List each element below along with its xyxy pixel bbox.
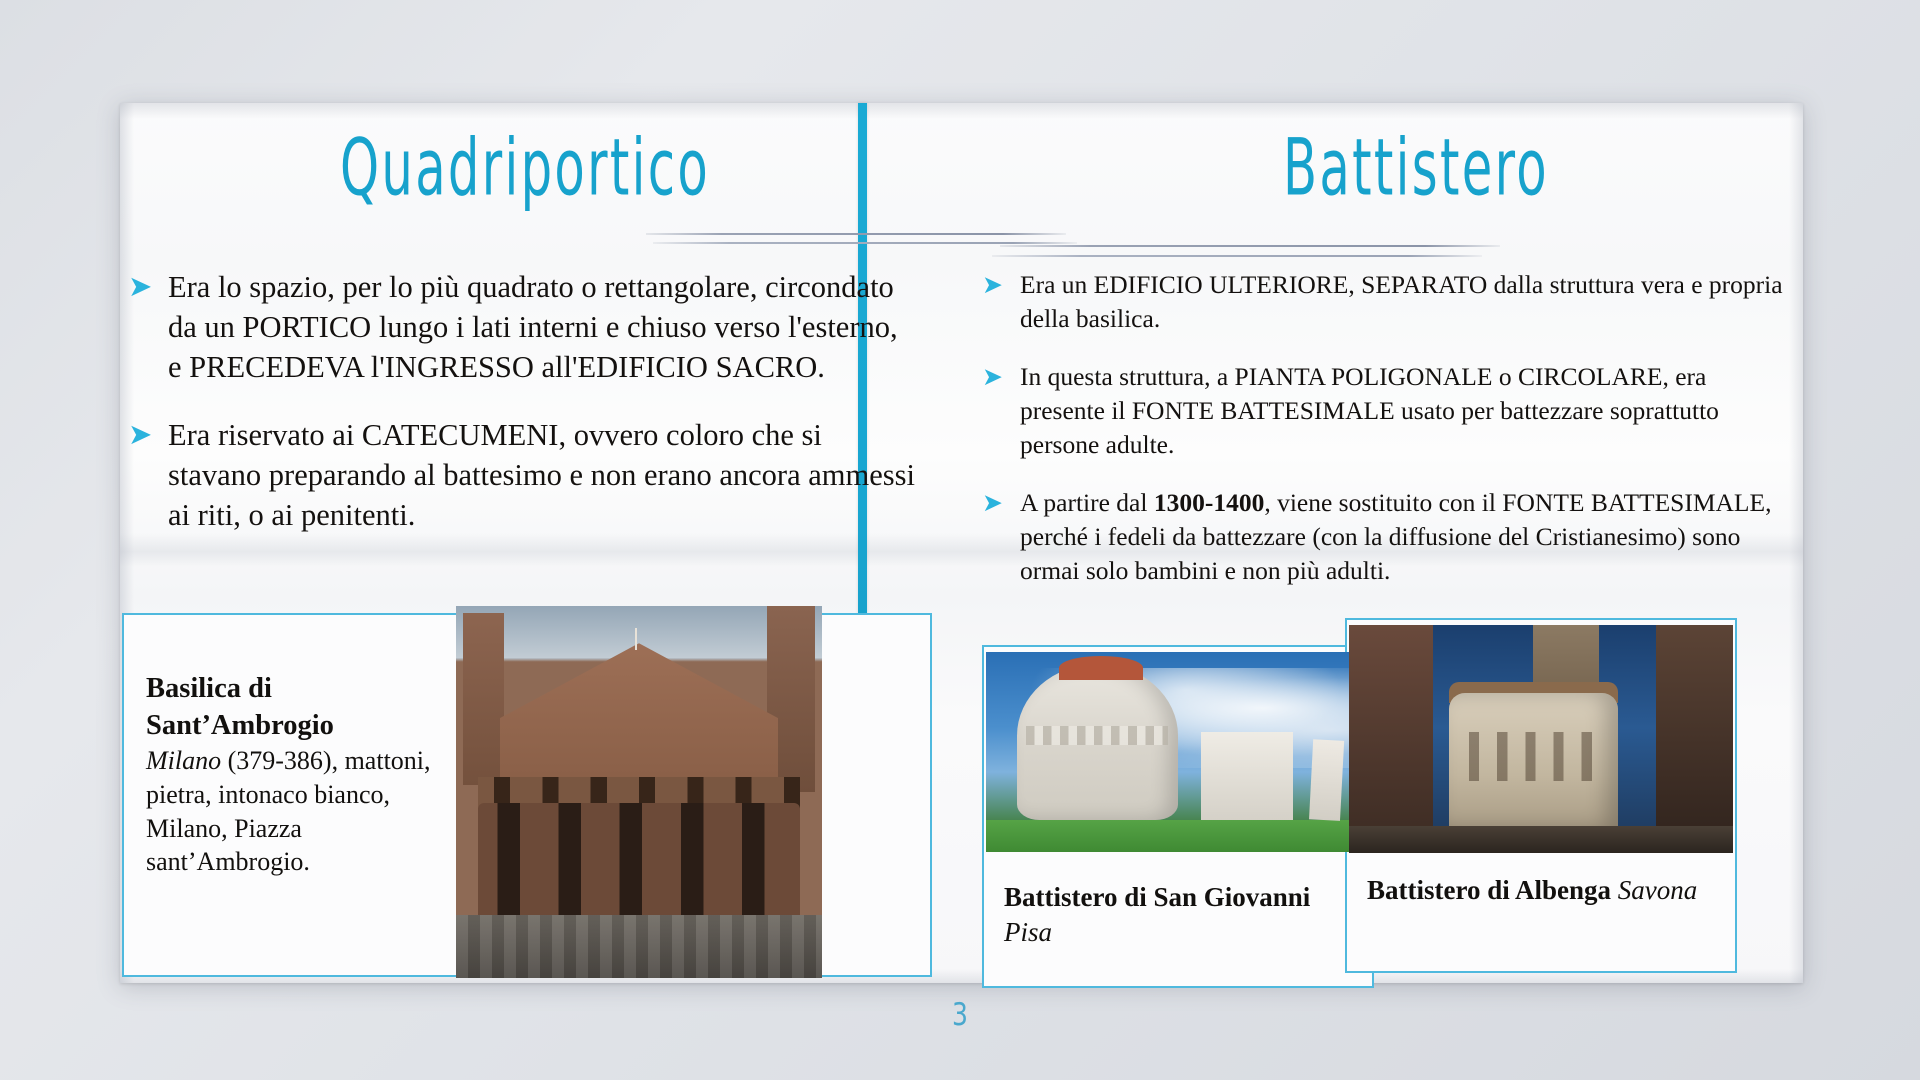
bullet-text: Era riservato ai CATECUMENI, ovvero colo… — [168, 416, 918, 536]
bullet-arrow-icon: ➤ — [982, 486, 1020, 516]
battistero-san-giovanni-pisa-photo — [986, 652, 1370, 852]
text-run: A partire dal — [1020, 488, 1154, 517]
caption-text: Battistero di Albenga Savona — [1347, 851, 1735, 971]
photo-building-right — [1656, 625, 1733, 853]
photo-baptistery-dome — [1017, 664, 1178, 820]
text-run: In questa struttura, a PIANTA POLIGONALE… — [1020, 362, 1719, 458]
photo-grass — [986, 820, 1370, 852]
bullet-arrow-icon: ➤ — [982, 268, 1020, 298]
bullet-text: A partire dal 1300-1400, viene sostituit… — [1020, 486, 1792, 587]
bullet-item: ➤ In questa struttura, a PIANTA POLIGONA… — [982, 360, 1792, 461]
bullet-item: ➤ Era riservato ai CATECUMENI, ovvero co… — [128, 416, 918, 536]
page-number: 3 — [0, 996, 1920, 1032]
photo-cross — [635, 628, 637, 650]
bullet-text: Era un EDIFICIO ULTERIORE, SEPARATO dall… — [1020, 268, 1792, 335]
photo-lower-arcade — [478, 803, 800, 915]
bullet-text: In questa struttura, a PIANTA POLIGONALE… — [1020, 360, 1792, 461]
photo-building-left — [1349, 625, 1433, 853]
right-column: ➤ Era un EDIFICIO ULTERIORE, SEPARATO da… — [982, 268, 1792, 612]
photo-tower-left — [463, 613, 503, 784]
page-title-right: Battistero — [1283, 122, 1549, 213]
bullet-item: ➤ A partire dal 1300-1400, viene sostitu… — [982, 486, 1792, 587]
caption-title: Battistero di Albenga — [1367, 875, 1618, 905]
photo-duomo — [1201, 732, 1293, 820]
bullet-item: ➤ Era lo spazio, per lo più quadrato o r… — [128, 268, 918, 388]
caption-title: Basilica di Sant’Ambrogio — [146, 673, 334, 741]
decorative-rule-right-upper — [1000, 245, 1500, 247]
photo-leaning-tower — [1309, 739, 1344, 820]
decorative-rule-left-upper — [646, 233, 1066, 235]
caption-title: Battistero di San Giovanni — [1004, 882, 1310, 912]
photo-baptistery-body — [1449, 693, 1618, 830]
photo-ground — [1349, 826, 1733, 853]
text-run: Era un EDIFICIO ULTERIORE, SEPARATO dall… — [1020, 270, 1783, 333]
caption-text: Basilica di Sant’Ambrogio Milano (379-38… — [124, 615, 444, 975]
battistero-albenga-photo — [1349, 625, 1733, 853]
paper-fold-top — [120, 103, 1803, 119]
text-run: 1300-1400 — [1154, 488, 1265, 517]
caption-place: Milano — [146, 746, 221, 775]
left-column: ➤ Era lo spazio, per lo più quadrato o r… — [128, 268, 918, 564]
photo-courtyard-floor — [456, 915, 822, 978]
decorative-rule-left-lower — [653, 242, 1077, 244]
caption-text: Battistero di San Giovanni Pisa — [984, 858, 1372, 986]
bullet-item: ➤ Era un EDIFICIO ULTERIORE, SEPARATO da… — [982, 268, 1792, 335]
page-title-left: Quadriportico — [340, 122, 710, 213]
caption-place: Pisa — [1004, 917, 1052, 947]
bullet-arrow-icon: ➤ — [982, 360, 1020, 390]
caption-place: Savona — [1618, 875, 1697, 905]
photo-dome-cap — [1059, 656, 1143, 680]
bullet-arrow-icon: ➤ — [128, 268, 168, 302]
decorative-rule-right-lower — [992, 255, 1482, 257]
bullet-text: Era lo spazio, per lo più quadrato o ret… — [168, 268, 918, 388]
bullet-arrow-icon: ➤ — [128, 416, 168, 450]
basilica-sant-ambrogio-photo — [456, 606, 822, 978]
